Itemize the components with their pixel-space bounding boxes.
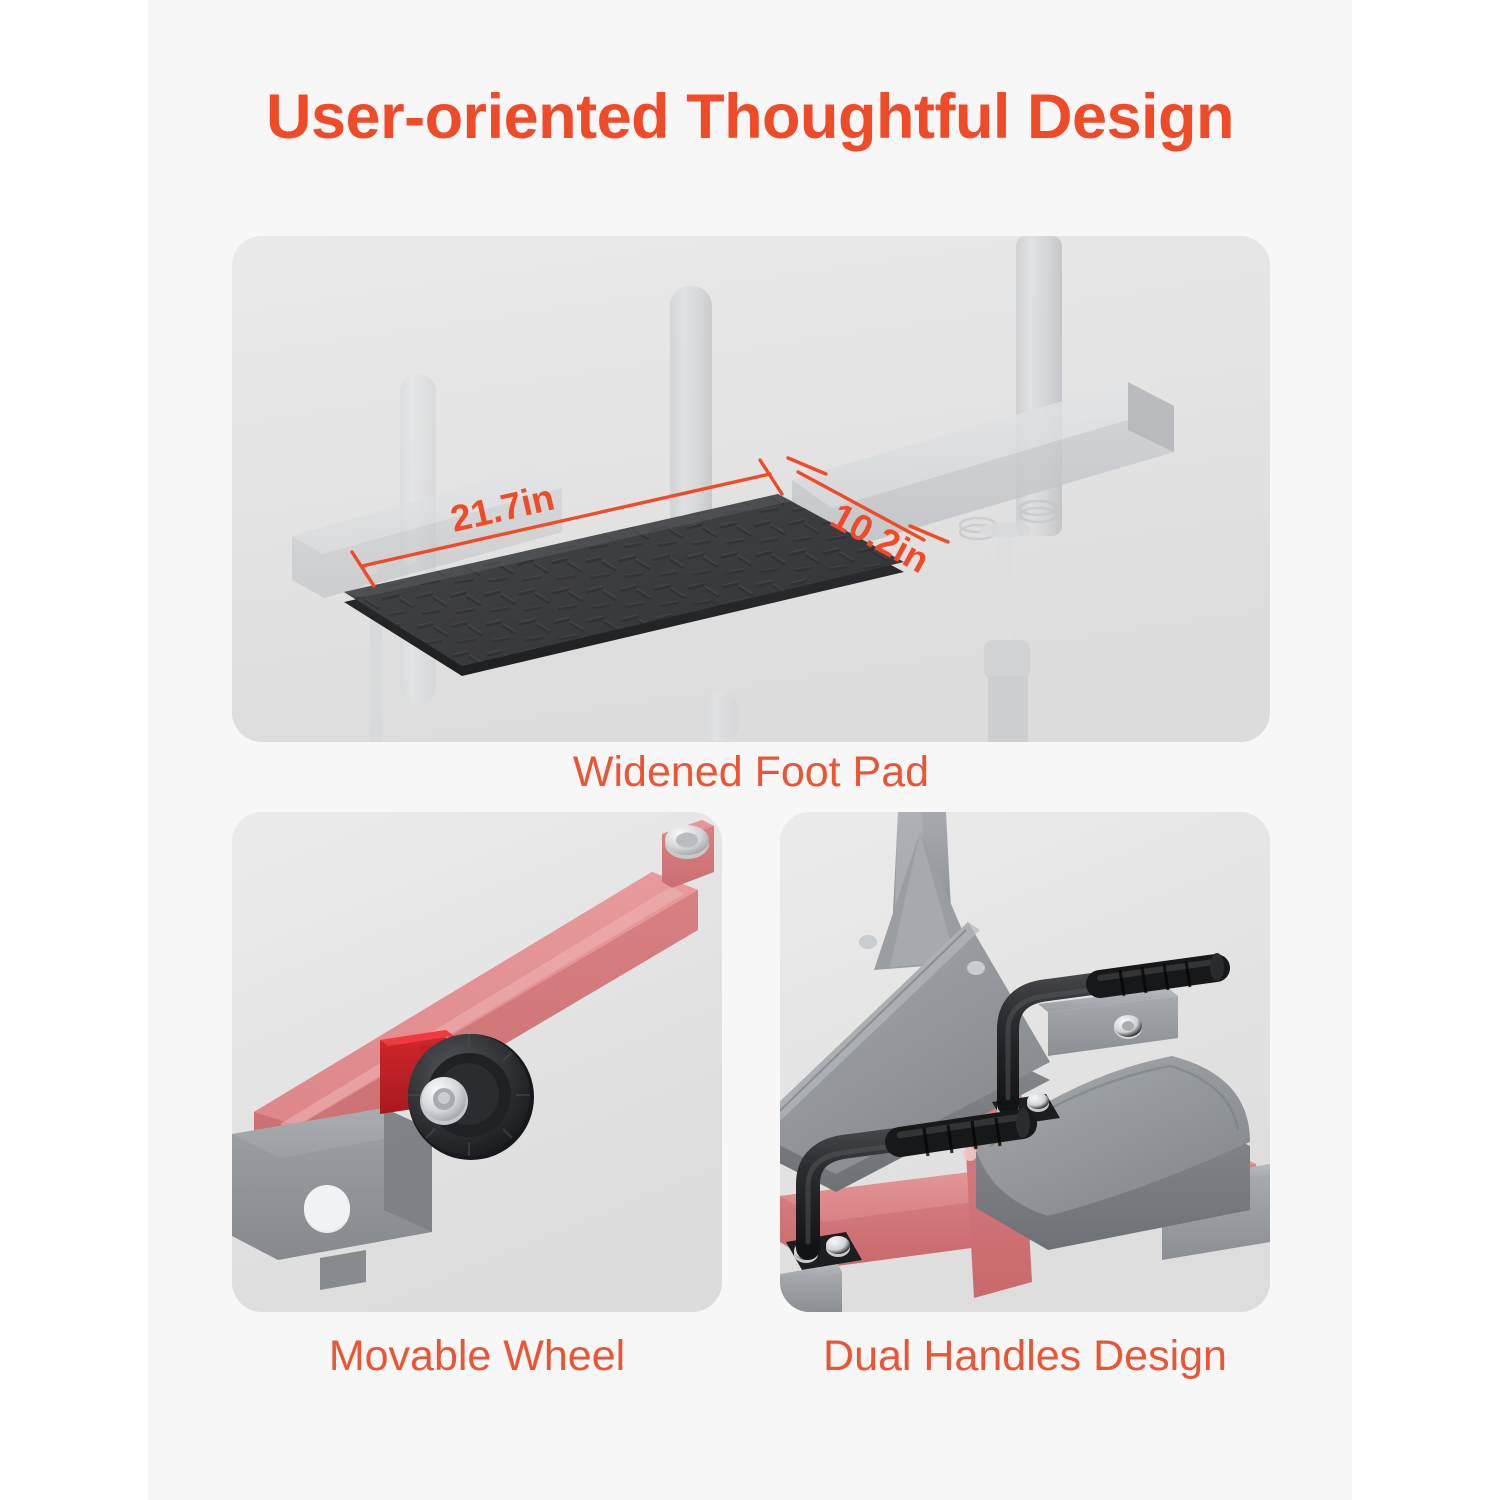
dual-handles-illustration [780,812,1270,1312]
ghost-stub-bottom [704,692,738,742]
foot-pad-illustration: 21.7in 10.2in [232,236,1270,742]
caption-movable-wheel: Movable Wheel [232,1332,722,1381]
page-title: User-oriented Thoughtful Design [148,84,1352,150]
movable-wheel-illustration [232,812,722,1312]
caption-foot-pad: Widened Foot Pad [232,748,1270,797]
infographic-page: User-oriented Thoughtful Design [0,0,1500,1500]
transport-wheel [408,1034,534,1160]
panel-dual-handles [780,812,1270,1312]
caption-dual-handles: Dual Handles Design [780,1332,1270,1381]
panel-movable-wheel [232,812,722,1312]
panel-foot-pad: 21.7in 10.2in [232,236,1270,742]
